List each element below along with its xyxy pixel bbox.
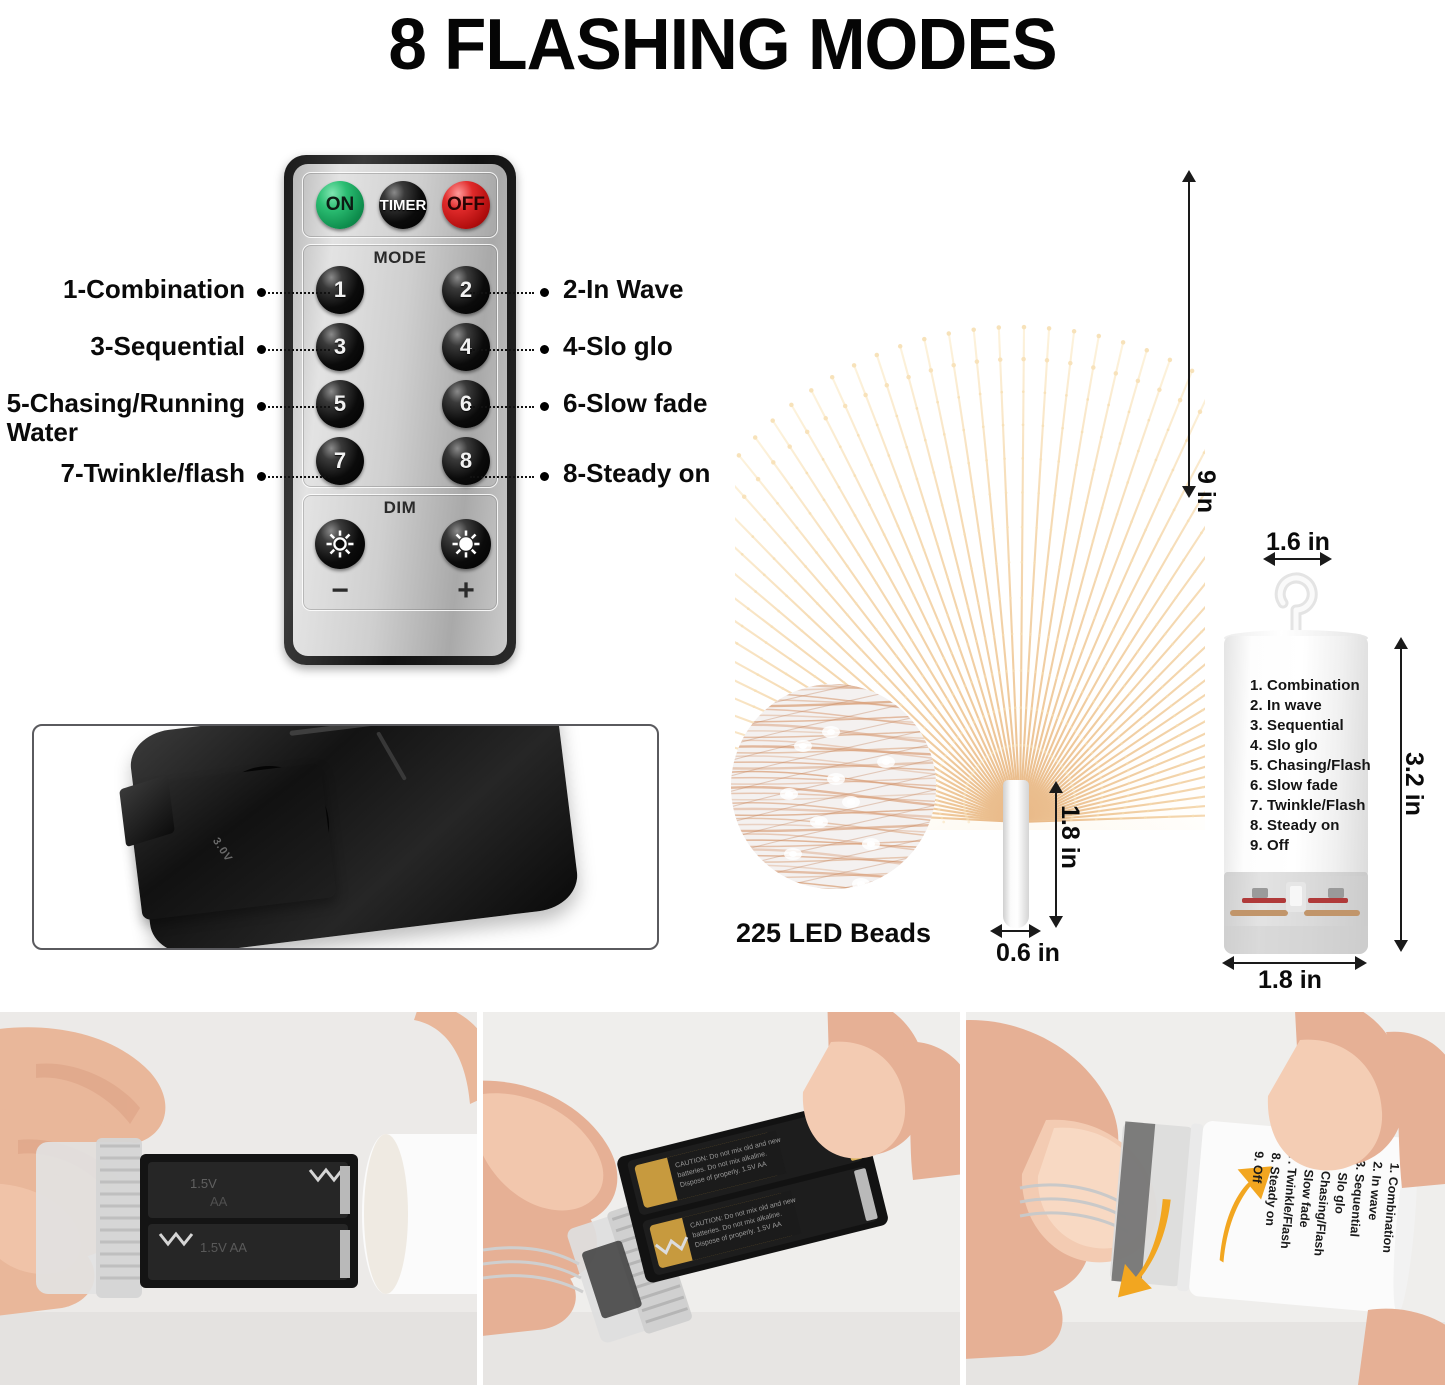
callout-line-2 [470,292,534,294]
callout-mode-3: 3-Sequential [90,332,245,361]
callout-mode-1: 1-Combination [63,275,245,304]
photo-3-illustration: 1. Combination 2. In wave 3. Sequential … [966,1012,1445,1385]
mode-button-4[interactable]: 4 [442,323,490,371]
dim-arrow-lamp-bottom [1394,940,1408,952]
timer-button[interactable]: TIMER [379,181,427,229]
dim-down-button[interactable] [315,519,365,569]
callout-dot-1 [257,288,266,297]
fan-handle-stick [1003,780,1029,928]
callout-dot-6 [540,402,549,411]
dim-label-fan-height: 9 in [1191,470,1220,513]
remote-battery-compartment-panel: 3.0V [32,724,659,950]
off-button[interactable]: OFF [442,181,490,229]
lamp-mode-item: 7. Twinkle/Flash [1250,796,1370,816]
dim-arrow-stick-bottom [1049,916,1063,928]
dim-line-lamp-top-width [1273,558,1325,560]
mode-group-label: MODE [293,248,507,268]
dim-up-button[interactable] [441,519,491,569]
dim-arrow-stick-top [1049,781,1063,793]
lamp-mode-item: 8. Steady on [1250,816,1370,836]
page-title: 8 FLASHING MODES [29,4,1416,86]
callout-line-8 [470,476,534,478]
svg-text:AA: AA [210,1194,228,1209]
svg-text:1.5V: 1.5V [190,1176,217,1191]
dim-label-lamp-top-width: 1.6 in [1266,528,1330,557]
lamp-mode-item: 3. Sequential [1250,716,1370,736]
mode-button-3[interactable]: 3 [316,323,364,371]
callout-mode-8: 8-Steady on [563,459,710,488]
dim-minus-label: − [315,576,365,606]
dim-label-lamp-height: 3.2 in [1399,752,1428,816]
lamp-mode-item: 4. Slo glo [1250,736,1370,756]
callout-mode-7: 7-Twinkle/flash [61,459,245,488]
mode-button-2[interactable]: 2 [442,266,490,314]
dim-line-fan-height [1188,182,1190,486]
copper-wire-texture [731,684,936,889]
dim-label-lamp-bottom-width: 1.8 in [1258,966,1322,995]
callout-dot-4 [540,345,549,354]
dim-label-stick-height: 1.8 in [1055,805,1084,869]
lamp-mode-list: 1. Combination 2. In wave 3. Sequential … [1250,676,1370,855]
dim-arrow-stick-left [990,924,1002,938]
callout-mode-6: 6-Slow fade [563,389,707,418]
remote-faceplate: ON TIMER OFF MODE 1 2 3 4 5 6 7 8 DIM [293,164,507,656]
callout-line-5 [268,406,330,408]
callout-mode-5-line2: Water [7,418,245,447]
mode-button-6[interactable]: 6 [442,380,490,428]
remote-shell: ON TIMER OFF MODE 1 2 3 4 5 6 7 8 DIM [284,155,516,665]
battery-base-internals [1224,872,1368,954]
dim-arrow-lamp-top [1394,637,1408,649]
callout-dot-8 [540,472,549,481]
callout-line-1 [268,292,330,294]
mode-button-5[interactable]: 5 [316,380,364,428]
callout-mode-5-line1: 5-Chasing/Running [7,389,245,418]
led-beads-label: 225 LED Beads [731,918,936,949]
dim-arrow-fan-top [1182,170,1196,182]
lamp-mode-item: 5. Chasing/Flash [1250,756,1370,776]
photo-twist-cap-closed: 1. Combination 2. In wave 3. Sequential … [966,1012,1445,1385]
lamp-mode-item: 1. Combination [1250,676,1370,696]
svg-text:9. Off: 9. Off [1249,1151,1266,1185]
callout-mode-4: 4-Slo glo [563,332,673,361]
lamp-mode-item: 2. In wave [1250,696,1370,716]
callout-line-4 [470,349,534,351]
dim-arrow-lamp-bottom-left [1222,956,1234,970]
remote-control: ON TIMER OFF MODE 1 2 3 4 5 6 7 8 DIM [284,155,516,665]
photo-2-illustration: CAUTION: Do not mix old and new batterie… [483,1012,960,1385]
photo-1-illustration: 1.5V AA 1.5V AA [0,1012,477,1385]
callout-line-7 [268,476,330,478]
dim-line-lamp-bottom-width [1232,962,1360,964]
callout-dot-5 [257,402,266,411]
lamp-mode-item: 9. Off [1250,836,1370,856]
photo-insert-aa-batteries: CAUTION: Do not mix old and new batterie… [483,1012,960,1385]
callout-mode-2: 2-In Wave [563,275,683,304]
callout-line-6 [470,406,534,408]
dim-arrow-lamp-bottom-right [1355,956,1367,970]
lamp-mode-item: 6. Slow fade [1250,776,1370,796]
dim-plus-label: + [441,576,491,606]
lamp-battery-base [1224,872,1368,954]
mode-button-1[interactable]: 1 [316,266,364,314]
led-beads-closeup [731,684,936,889]
on-button[interactable]: ON [316,181,364,229]
dim-arrow-stick-right [1029,924,1041,938]
dim-label-stick-width: 0.6 in [996,939,1060,968]
sun-bright-icon [451,529,481,559]
svg-text:1.5V AA: 1.5V AA [200,1240,247,1255]
sun-dim-icon [325,529,355,559]
callout-dot-3 [257,345,266,354]
dim-group-label: DIM [293,498,507,518]
callout-dot-7 [257,472,266,481]
callout-line-3 [268,349,330,351]
photo-open-battery-holder: 1.5V AA 1.5V AA [0,1012,477,1385]
callout-dot-2 [540,288,549,297]
callout-mode-5: 5-Chasing/Running Water [7,389,245,447]
